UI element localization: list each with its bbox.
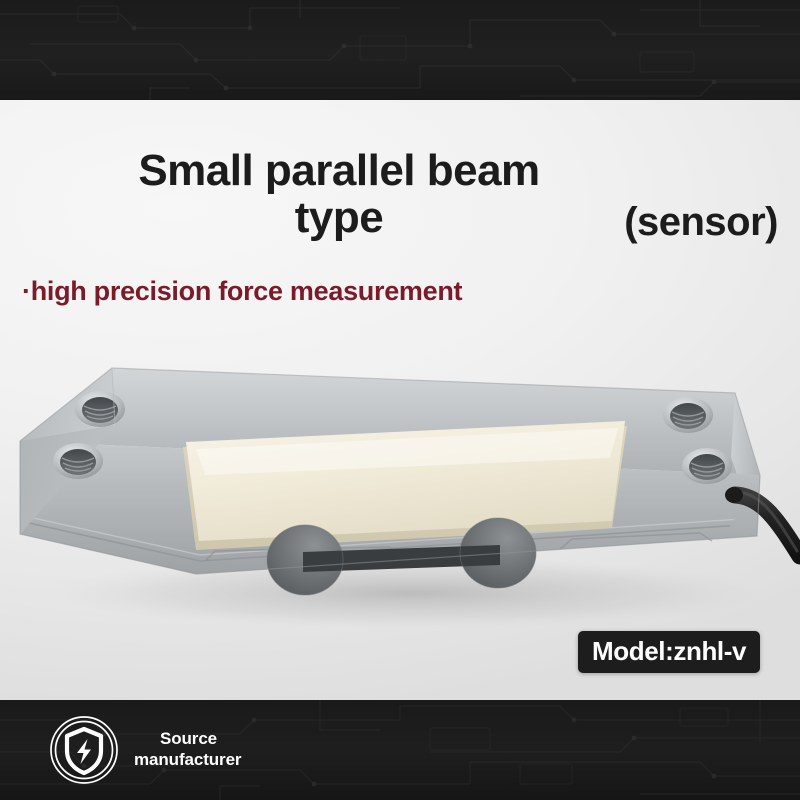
threaded-hole-left-lower bbox=[53, 443, 103, 479]
threaded-hole-right-upper bbox=[663, 397, 713, 433]
cable-gland bbox=[725, 487, 743, 503]
shield-bolt-icon bbox=[48, 714, 120, 786]
product-banner: Small parallel beam type (sensor) ·high … bbox=[0, 0, 800, 800]
brand-name: Source manufacturer bbox=[134, 729, 241, 770]
product-image bbox=[0, 325, 800, 645]
page-subtitle: ·high precision force measurement bbox=[22, 276, 462, 307]
brand-name-line-2: manufacturer bbox=[134, 750, 241, 771]
top-decorative-bar bbox=[0, 0, 800, 100]
page-title-line-1: Small parallel beam bbox=[0, 148, 800, 195]
product-stage: Small parallel beam type (sensor) ·high … bbox=[0, 100, 800, 700]
page-title-suffix: (sensor) bbox=[624, 200, 778, 245]
model-badge: Model:znhl-v bbox=[578, 631, 760, 673]
brand-lockup: Source manufacturer bbox=[48, 712, 241, 788]
threaded-hole-left-upper bbox=[75, 391, 125, 427]
footer-bar: Source manufacturer bbox=[0, 700, 800, 800]
load-cell-illustration bbox=[0, 325, 800, 645]
brand-name-line-1: Source bbox=[134, 729, 241, 750]
threaded-hole-right-lower bbox=[682, 448, 732, 484]
circuit-pattern-top bbox=[0, 0, 800, 100]
